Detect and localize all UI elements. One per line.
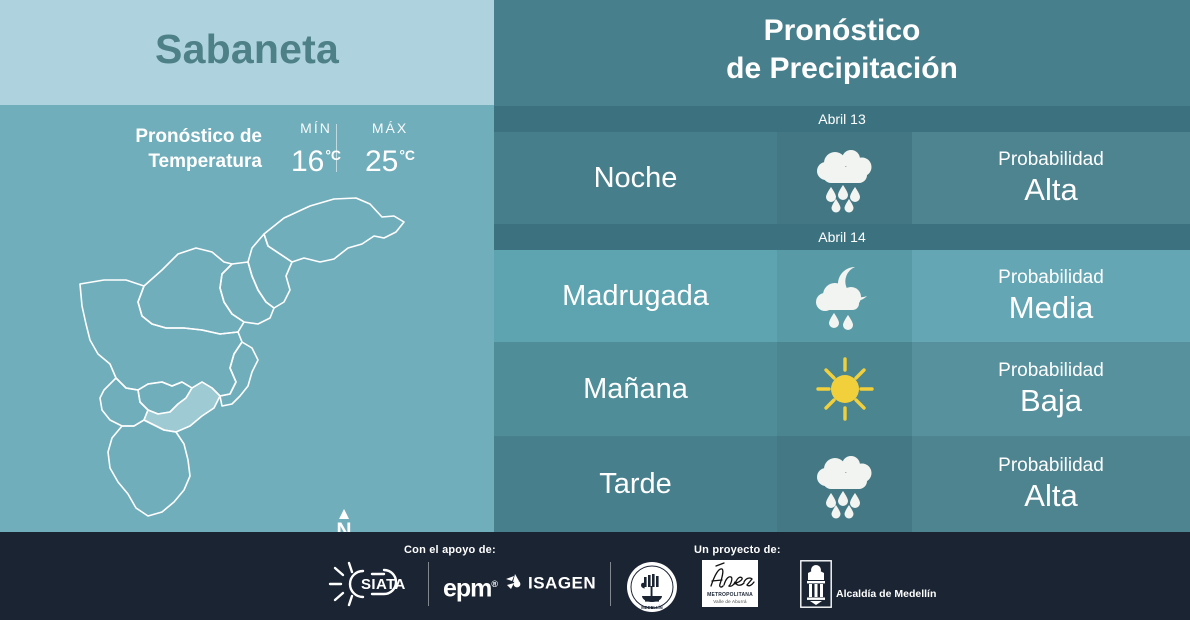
left-panel: Sabaneta Pronóstico de Temperatura MÍN 1… xyxy=(0,0,494,532)
temperature-title-line2: Temperatura xyxy=(148,151,262,172)
support-caption: Con el apoyo de: xyxy=(404,544,496,556)
rain-cloud-icon xyxy=(807,143,883,213)
weather-icon-cell-tarde xyxy=(777,436,912,532)
probability-label-manana: Probabilidad xyxy=(998,359,1104,383)
forecast-row-noche[interactable]: Noche Probabilidad xyxy=(494,132,1190,224)
temperature-forecast-block: Pronóstico de Temperatura MÍN 16°C MÁX 2… xyxy=(0,118,494,182)
moon-cloud-rain-icon xyxy=(807,261,883,331)
probability-value-tarde: Alta xyxy=(1024,478,1077,514)
period-label-noche: Noche xyxy=(494,132,777,224)
isagen-logo[interactable]: ISAGEN xyxy=(505,573,596,596)
area-metropolitana-logo[interactable]: METROPOLITANA Valle de Aburrá xyxy=(702,560,758,607)
area-metropolitana-box: METROPOLITANA Valle de Aburrá xyxy=(702,560,758,607)
probability-cell-noche: Probabilidad Alta xyxy=(912,132,1190,224)
footer-divider-2 xyxy=(610,562,611,606)
period-label-manana: Mañana xyxy=(494,342,777,436)
siata-logo-icon: SIATA xyxy=(328,560,422,608)
map-region-medellin xyxy=(80,280,242,396)
probability-label-tarde: Probabilidad xyxy=(998,454,1104,478)
period-label-tarde: Tarde xyxy=(494,436,777,532)
siata-logo[interactable]: SIATA xyxy=(328,560,422,613)
alcaldia-crest-icon xyxy=(800,560,832,608)
forecast-row-manana[interactable]: Mañana Probabili xyxy=(494,342,1190,436)
epm-wordmark: epm xyxy=(443,574,491,602)
weather-forecast-infographic: Sabaneta Pronóstico de Temperatura MÍN 1… xyxy=(0,0,1190,620)
area-metropolitana-line2: Valle de Aburrá xyxy=(702,599,758,604)
map-region-copacabana xyxy=(220,262,274,324)
alcaldia-medellin-logo[interactable]: Alcaldía de Medellín xyxy=(800,560,832,613)
probability-label-madrugada: Probabilidad xyxy=(998,266,1104,290)
map-region-girardota xyxy=(248,234,292,308)
universidad-medellin-logo[interactable]: MEDELLÍN xyxy=(626,561,678,618)
area-script-icon xyxy=(702,560,758,594)
map-region-barbosa xyxy=(264,198,404,262)
map-region-sabaneta-highlighted xyxy=(144,382,220,432)
forecast-row-madrugada[interactable]: Madrugada Probabilidad Media xyxy=(494,250,1190,342)
precipitation-title-line1: Pronóstico xyxy=(764,14,921,47)
universidad-medellin-wordmark: MEDELLÍN xyxy=(641,605,662,610)
probability-cell-tarde: Probabilidad Alta xyxy=(912,436,1190,532)
temperature-max-unit: °C xyxy=(399,147,415,163)
footer-divider-1 xyxy=(428,562,429,606)
city-name: Sabaneta xyxy=(0,26,494,73)
epm-logo[interactable]: epm® xyxy=(443,572,497,601)
day-header-abril-14: Abril 14 xyxy=(494,224,1190,250)
temperature-max-label: MÁX xyxy=(342,118,438,138)
probability-value-noche: Alta xyxy=(1024,172,1077,208)
probability-cell-manana: Probabilidad Baja xyxy=(912,342,1190,436)
temperature-max-value: 25 xyxy=(365,145,398,178)
map-region-la-estrella xyxy=(100,378,148,426)
forecast-row-tarde[interactable]: Tarde Probabilidad xyxy=(494,436,1190,532)
epm-registered-mark: ® xyxy=(491,579,497,589)
temperature-title-line1: Pronóstico de xyxy=(135,126,262,147)
precipitation-title: Pronóstico de Precipitación xyxy=(494,12,1190,88)
probability-label-noche: Probabilidad xyxy=(998,148,1104,172)
temperature-min-unit: °C xyxy=(325,147,341,163)
weather-icon-cell-noche xyxy=(777,132,912,224)
alcaldia-wordmark: Alcaldía de Medellín xyxy=(836,588,936,600)
area-metropolitana-line1: METROPOLITANA xyxy=(702,592,758,598)
temperature-max: MÁX 25°C xyxy=(342,118,438,179)
siata-wordmark: SIATA xyxy=(361,576,406,593)
day-header-abril-13: Abril 13 xyxy=(494,106,1190,132)
isagen-wordmark: ISAGEN xyxy=(528,574,596,593)
map-region-caldas xyxy=(108,420,190,516)
map-region-bello xyxy=(138,248,244,334)
map-region-envigado xyxy=(220,342,258,406)
temperature-max-value-wrap: 25°C xyxy=(342,138,438,179)
weather-icon-cell-manana xyxy=(777,342,912,436)
universidad-medellin-seal-icon: MEDELLÍN xyxy=(626,561,678,613)
period-label-madrugada: Madrugada xyxy=(494,250,777,342)
rain-cloud-icon xyxy=(807,449,883,519)
precipitation-panel: Pronóstico de Precipitación Abril 13 Abr… xyxy=(494,0,1190,532)
isagen-mark-icon xyxy=(505,573,525,591)
weather-icon-cell-madrugada xyxy=(777,250,912,342)
sun-icon xyxy=(807,354,883,424)
municipality-map: ▲ N xyxy=(52,182,442,527)
probability-value-manana: Baja xyxy=(1020,383,1082,419)
project-caption: Un proyecto de: xyxy=(694,544,781,556)
probability-cell-madrugada: Probabilidad Media xyxy=(912,250,1190,342)
temperature-min-value: 16 xyxy=(291,145,324,178)
precipitation-title-line2: de Precipitación xyxy=(726,52,958,85)
probability-value-madrugada: Media xyxy=(1009,290,1093,326)
temperature-forecast-title: Pronóstico de Temperatura xyxy=(62,124,262,174)
